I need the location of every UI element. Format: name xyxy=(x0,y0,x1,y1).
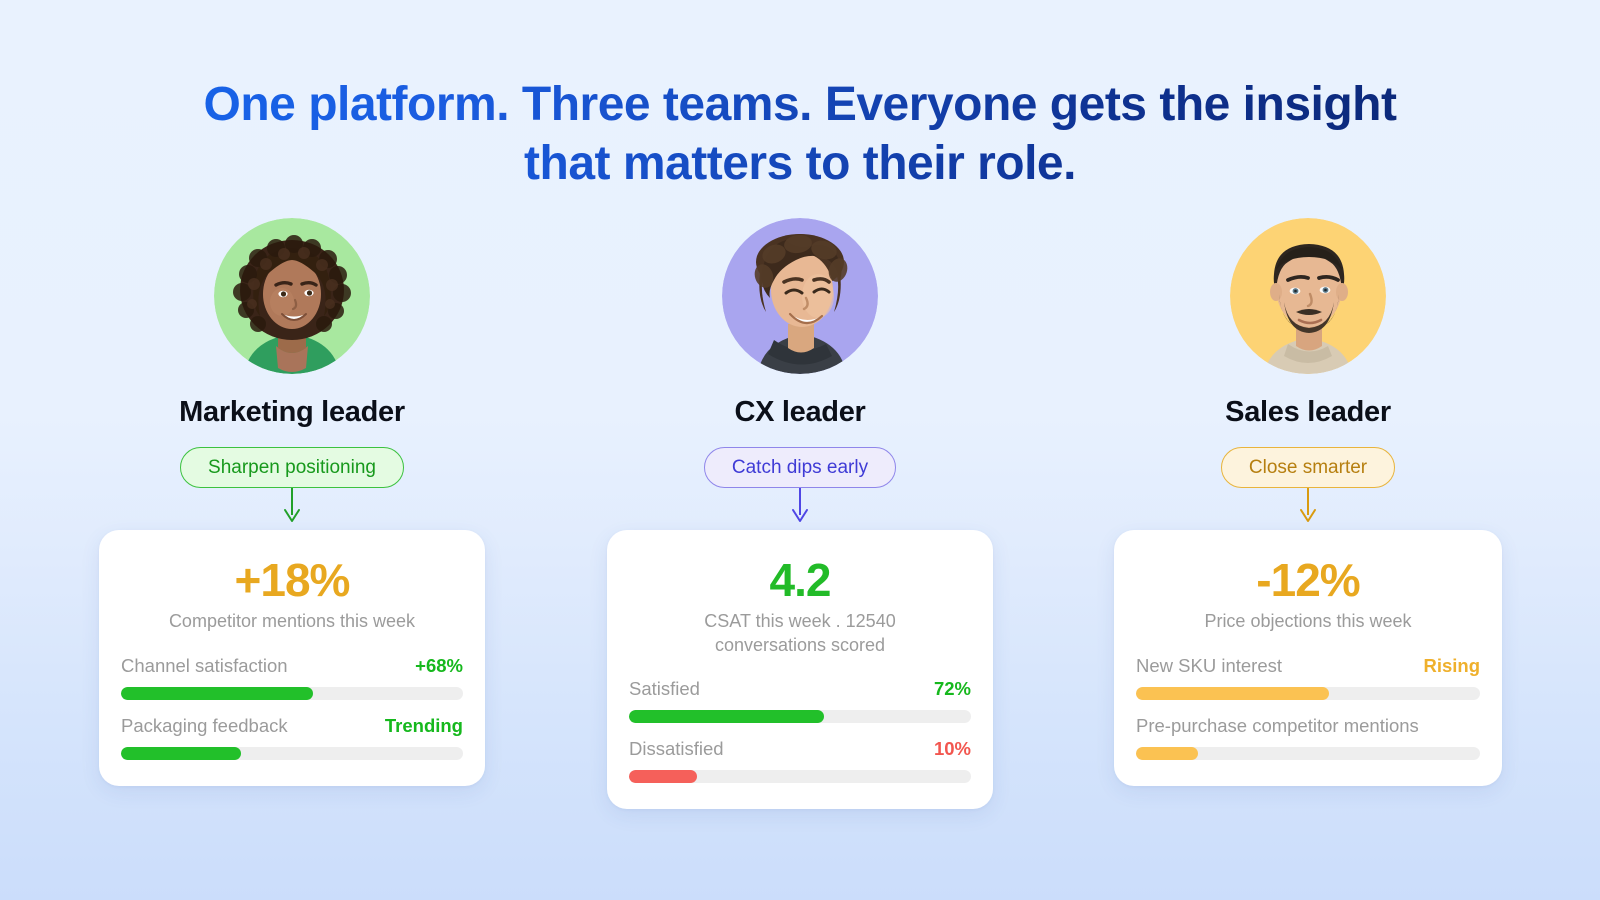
avatar-woman-curly-hair-icon xyxy=(214,218,370,374)
metric-value: +68% xyxy=(415,654,463,677)
metric-row: Pre-purchase competitor mentions xyxy=(1136,714,1480,760)
metric-row: Channel satisfaction +68% xyxy=(121,654,463,700)
metric-label: Satisfied xyxy=(629,677,700,700)
page-headline: One platform. Three teams. Everyone gets… xyxy=(170,0,1430,193)
avatar-cx-leader xyxy=(722,218,878,374)
metric-card-cx-leader: 4.2 CSAT this week . 12540 conversations… xyxy=(607,530,993,809)
metric-value: Trending xyxy=(385,714,463,737)
role-title-cx-leader: CX leader xyxy=(734,398,865,427)
card-subtitle-cx: CSAT this week . 12540 conversations sco… xyxy=(629,610,971,657)
metric-row: New SKU interest Rising xyxy=(1136,654,1480,700)
metric-card-sales-leader: -12% Price objections this week New SKU … xyxy=(1114,530,1502,786)
persona-column-cx-leader: CX leader Catch dips early 4.2 CSAT this… xyxy=(577,218,1023,809)
avatar-marketing-leader xyxy=(214,218,370,374)
card-big-stat-sales: -12% xyxy=(1136,556,1480,604)
avatar-sales-leader xyxy=(1230,218,1386,374)
metric-row: Packaging feedback Trending xyxy=(121,714,463,760)
metric-progress-track xyxy=(1136,747,1480,760)
metric-row: Satisfied 72% xyxy=(629,677,971,723)
metric-progress-track xyxy=(1136,687,1480,700)
avatar-man-beard-icon xyxy=(1230,218,1386,374)
metric-list-sales: New SKU interest Rising Pre-purchase com… xyxy=(1136,654,1480,760)
connector-arrow-marketing xyxy=(281,488,303,528)
persona-pill-sales-leader[interactable]: Close smarter xyxy=(1221,447,1395,488)
persona-pill-cx-leader[interactable]: Catch dips early xyxy=(704,447,896,488)
card-subtitle-sales: Price objections this week xyxy=(1136,610,1480,633)
metric-list-cx: Satisfied 72% Dissatisfied 10% xyxy=(629,677,971,783)
metric-value: Rising xyxy=(1423,654,1480,677)
card-big-stat-marketing: +18% xyxy=(121,556,463,604)
metric-label: Channel satisfaction xyxy=(121,654,288,677)
persona-column-marketing-leader: Marketing leader Sharpen positioning +18… xyxy=(69,218,515,809)
metric-progress-track xyxy=(629,770,971,783)
metric-card-marketing-leader: +18% Competitor mentions this week Chann… xyxy=(99,530,485,786)
persona-pill-marketing-leader[interactable]: Sharpen positioning xyxy=(180,447,404,488)
metric-row: Dissatisfied 10% xyxy=(629,737,971,783)
metric-progress-track xyxy=(121,747,463,760)
persona-columns: Marketing leader Sharpen positioning +18… xyxy=(0,218,1600,809)
role-title-marketing-leader: Marketing leader xyxy=(179,398,405,427)
card-subtitle-marketing: Competitor mentions this week xyxy=(121,610,463,633)
avatar-man-wavy-hair-icon xyxy=(722,218,878,374)
metric-progress-fill xyxy=(121,687,313,700)
metric-value: 72% xyxy=(934,677,971,700)
headline-line-1: One platform. Three teams. Everyone gets… xyxy=(204,78,1397,131)
role-title-sales-leader: Sales leader xyxy=(1225,398,1391,427)
metric-progress-fill xyxy=(1136,747,1198,760)
metric-progress-fill xyxy=(1136,687,1329,700)
metric-value: 10% xyxy=(934,737,971,760)
connector-arrow-sales xyxy=(1297,488,1319,528)
metric-label: New SKU interest xyxy=(1136,654,1282,677)
persona-column-sales-leader: Sales leader Close smarter -12% Price ob… xyxy=(1085,218,1531,809)
metric-progress-fill xyxy=(629,710,824,723)
metric-progress-fill xyxy=(629,770,697,783)
metric-progress-fill xyxy=(121,747,241,760)
headline-line-2: that matters to their role. xyxy=(524,137,1076,190)
metric-progress-track xyxy=(121,687,463,700)
metric-list-marketing: Channel satisfaction +68% Packaging feed… xyxy=(121,654,463,760)
card-big-stat-cx: 4.2 xyxy=(629,556,971,604)
metric-progress-track xyxy=(629,710,971,723)
metric-label: Packaging feedback xyxy=(121,714,288,737)
metric-label: Dissatisfied xyxy=(629,737,724,760)
connector-arrow-cx xyxy=(789,488,811,528)
metric-label: Pre-purchase competitor mentions xyxy=(1136,714,1419,737)
